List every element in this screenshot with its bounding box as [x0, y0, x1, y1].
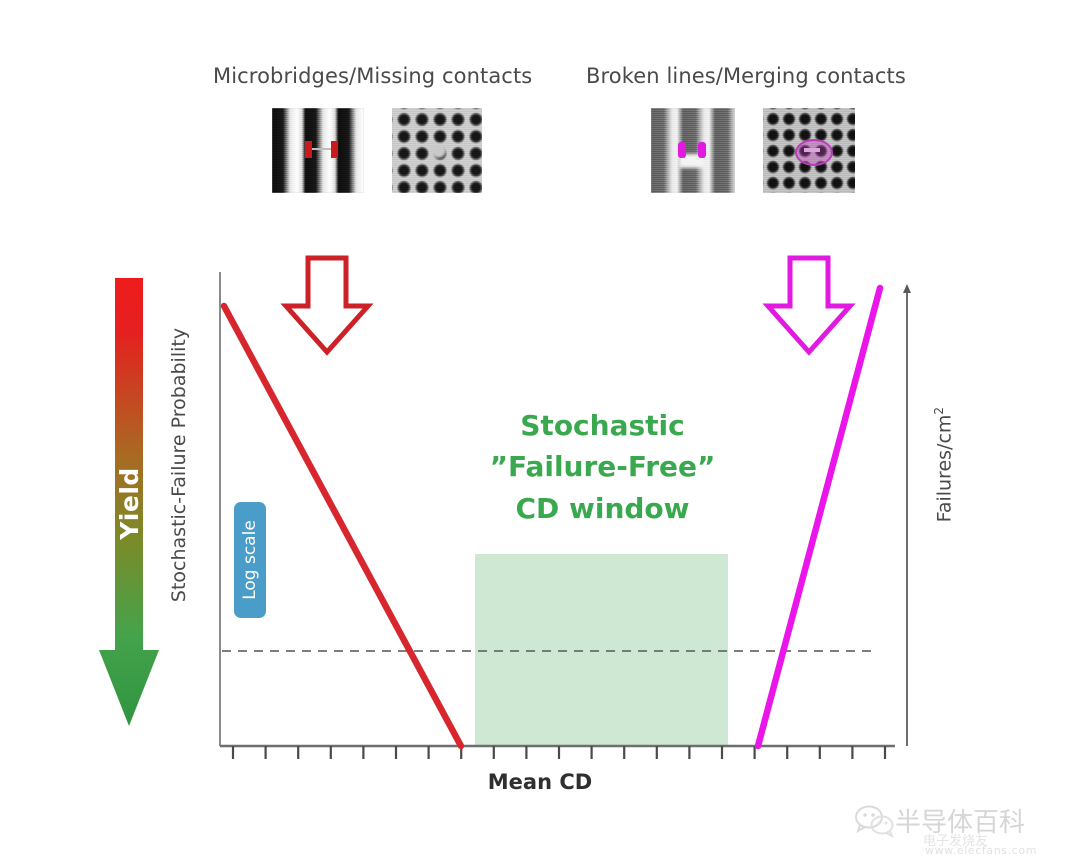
arrow-microbridge	[286, 258, 368, 352]
figure-canvas: Microbridges/Missing contacts Broken lin…	[0, 0, 1080, 864]
arrow-broken-line	[768, 258, 850, 352]
window-annotation-line-3: CD window	[470, 488, 735, 529]
series-line-broken-lines	[758, 288, 880, 746]
failure-free-window-band	[475, 554, 728, 745]
x-axis-label: Mean CD	[488, 770, 592, 794]
window-annotation-line-1: Stochastic	[470, 405, 735, 446]
failure-free-window-annotation: Stochastic ”Failure-Free” CD window	[470, 405, 735, 529]
log-scale-badge-label: Log scale	[240, 520, 260, 600]
x-axis-ticks	[233, 746, 885, 759]
x-axis-label-wrap: Mean CD	[0, 770, 1080, 794]
window-annotation-line-2: ”Failure-Free”	[470, 446, 735, 487]
watermark: 半导体百科 电子发烧友 www.elecfans.com	[855, 800, 1075, 860]
wechat-icon	[855, 804, 895, 838]
watermark-url: www.elecfans.com	[925, 844, 1037, 857]
log-scale-badge: Log scale	[234, 502, 266, 618]
